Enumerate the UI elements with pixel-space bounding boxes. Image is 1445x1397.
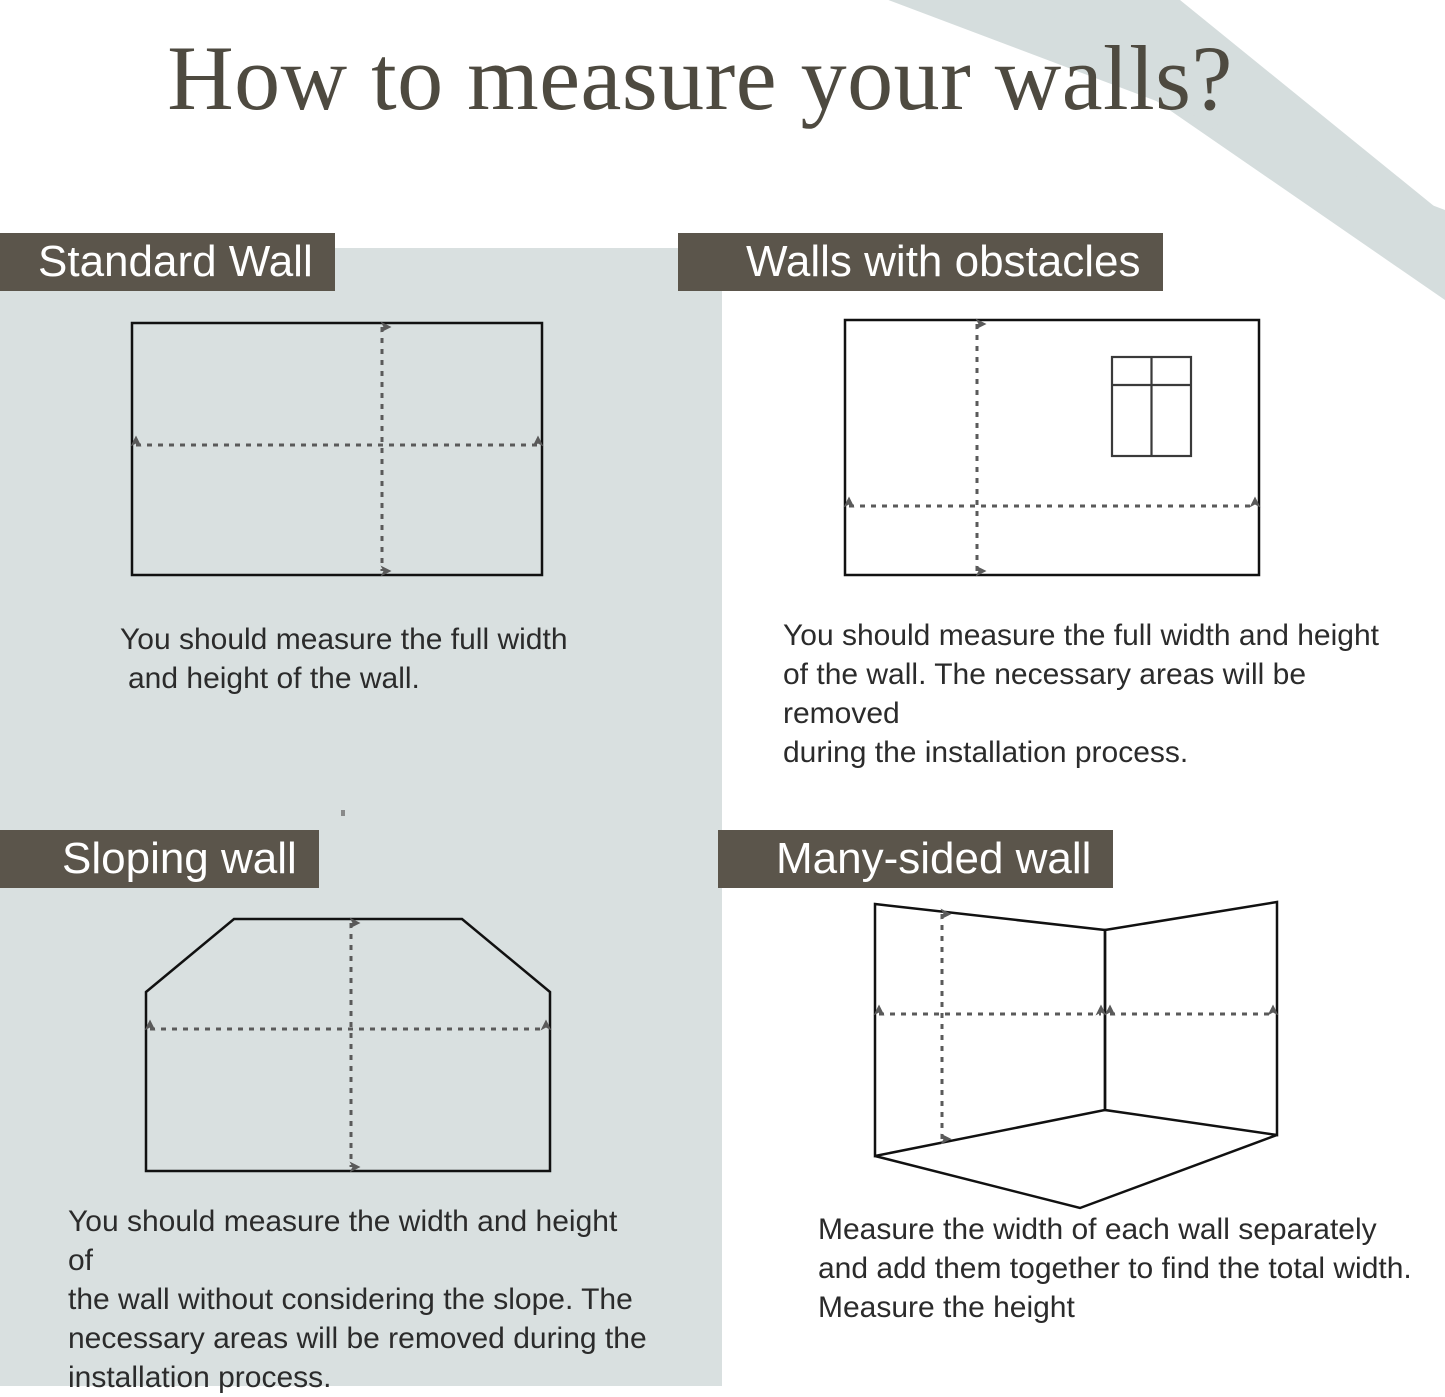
- caption-line: You should measure the full width: [120, 620, 640, 659]
- caption-line: the wall without considering the slope. …: [68, 1280, 648, 1319]
- standard-wall-diagram: [110, 305, 580, 595]
- caption-line: of the wall. The necessary areas will be…: [783, 655, 1408, 733]
- caption-line: Measure the width of each wall separatel…: [818, 1210, 1418, 1249]
- floor-outline: [875, 1135, 1277, 1208]
- caption-line: Measure the height: [818, 1288, 1418, 1327]
- section-heading-walls-with-obstacles: Walls with obstacles: [678, 233, 1163, 291]
- sloping-wall-outline: [146, 919, 550, 1171]
- caption-sloping-wall: You should measure the width and height …: [68, 1202, 648, 1397]
- section-heading-sloping-wall: Sloping wall: [0, 830, 319, 888]
- wall-outline-rect: [132, 323, 542, 575]
- caption-line: and add them together to find the total …: [818, 1249, 1418, 1288]
- caption-standard-wall: You should measure the full width and he…: [120, 620, 640, 698]
- caption-line: and height of the wall.: [120, 659, 640, 698]
- walls-with-obstacles-diagram: [825, 300, 1295, 595]
- section-heading-many-sided-wall: Many-sided wall: [718, 830, 1113, 888]
- caption-line: You should measure the width and height …: [68, 1202, 648, 1280]
- caption-line: You should measure the full width and he…: [783, 616, 1408, 655]
- many-sided-wall-diagram: [845, 890, 1305, 1210]
- window-obstacle-icon: [1112, 357, 1191, 456]
- section-heading-standard-wall: Standard Wall: [0, 233, 335, 291]
- caption-many-sided-wall: Measure the width of each wall separatel…: [818, 1210, 1418, 1327]
- stray-speck-artifact: [341, 810, 345, 816]
- page-title: How to measure your walls?: [0, 30, 1400, 127]
- caption-line: installation process.: [68, 1358, 648, 1397]
- caption-line: during the installation process.: [783, 733, 1408, 772]
- left-wall-outline: [875, 904, 1105, 1156]
- wall-outline-rect: [845, 320, 1259, 575]
- right-wall-outline: [1105, 902, 1277, 1135]
- caption-walls-with-obstacles: You should measure the full width and he…: [783, 616, 1408, 772]
- caption-line: necessary areas will be removed during t…: [68, 1319, 648, 1358]
- sloping-wall-diagram: [110, 890, 590, 1200]
